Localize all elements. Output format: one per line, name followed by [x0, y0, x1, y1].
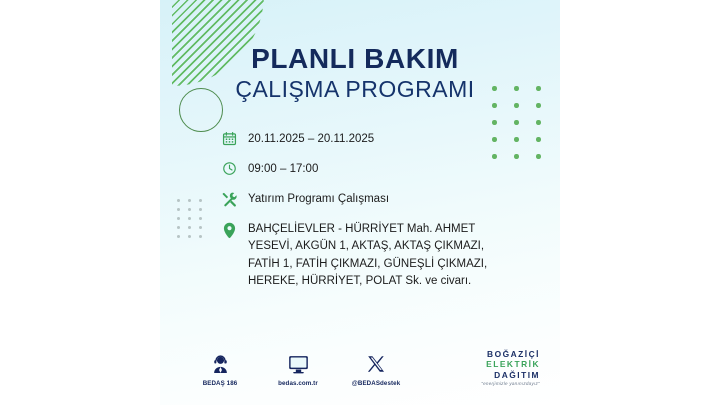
address-value: BAHÇELİEVLER - HÜRRİYET Mah. AHMET YESEV… — [248, 220, 512, 290]
monitor-icon — [272, 352, 324, 376]
tools-icon — [222, 190, 248, 209]
logo-line-3: DAĞITIM — [481, 370, 540, 380]
poster-footer: BEDAŞ 186 bedas.com.tr — [160, 349, 560, 387]
poster-heading: PLANLI BAKIM ÇALIŞMA PROGRAMI — [160, 44, 560, 102]
contact-website[interactable]: bedas.com.tr — [272, 352, 324, 387]
contact-x-label: @BEDASdestek — [350, 380, 402, 387]
contact-x-twitter[interactable]: @BEDASdestek — [350, 352, 402, 387]
calendar-icon — [222, 130, 248, 149]
work-type-value: Yatırım Programı Çalışması — [248, 190, 389, 207]
planned-maintenance-poster: PLANLI BAKIM ÇALIŞMA PROGRAMI — [160, 0, 560, 405]
contact-phone-label: BEDAŞ 186 — [194, 380, 246, 387]
contact-phone[interactable]: BEDAŞ 186 — [194, 352, 246, 387]
screenshot-stage: PLANLI BAKIM ÇALIŞMA PROGRAMI — [0, 0, 720, 405]
detail-row-date: 20.11.2025 – 20.11.2025 — [222, 130, 512, 149]
date-range-value: 20.11.2025 – 20.11.2025 — [248, 130, 374, 147]
contact-website-label: bedas.com.tr — [272, 380, 324, 387]
dot-grid-left-decoration — [177, 199, 210, 244]
logo-tagline: "enerjimizle yanınızdayız" — [481, 381, 540, 387]
clock-icon — [222, 160, 248, 179]
call-center-agent-icon — [194, 352, 246, 376]
maintenance-details: 20.11.2025 – 20.11.2025 09:00 – 17:00 — [222, 130, 512, 301]
contact-channels: BEDAŞ 186 bedas.com.tr — [194, 352, 402, 387]
location-pin-icon — [222, 220, 248, 239]
logo-line-2: ELEKTRİK — [481, 359, 540, 369]
x-twitter-icon — [350, 352, 402, 376]
bedas-logo: BOĞAZİÇİ ELEKTRİK DAĞITIM "enerjimizle y… — [481, 349, 540, 387]
page-subtitle: ÇALIŞMA PROGRAMI — [160, 76, 550, 102]
detail-row-time: 09:00 – 17:00 — [222, 160, 512, 179]
detail-row-work-type: Yatırım Programı Çalışması — [222, 190, 512, 209]
logo-line-1: BOĞAZİÇİ — [481, 349, 540, 359]
page-title: PLANLI BAKIM — [160, 44, 550, 74]
detail-row-address: BAHÇELİEVLER - HÜRRİYET Mah. AHMET YESEV… — [222, 220, 512, 290]
time-range-value: 09:00 – 17:00 — [248, 160, 318, 177]
